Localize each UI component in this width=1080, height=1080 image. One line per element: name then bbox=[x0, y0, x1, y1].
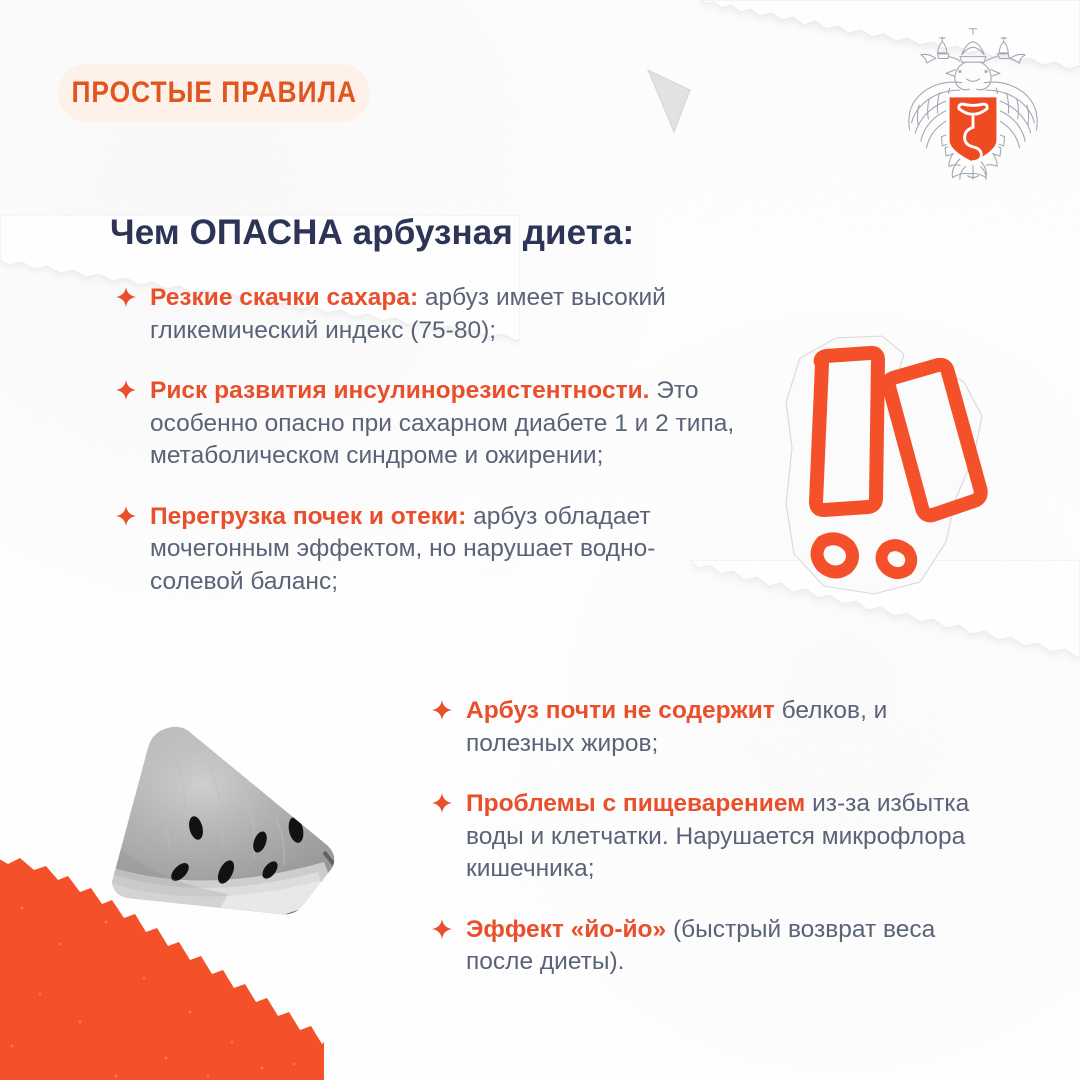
sparkle-star-icon bbox=[116, 287, 136, 307]
sparkle-star-icon bbox=[432, 700, 452, 720]
list-item-strong: Эффект «йо-йо» bbox=[466, 916, 666, 943]
list-item: Перегрузка почек и отеки: арбуз обладает… bbox=[116, 501, 736, 599]
sparkle-star-icon bbox=[432, 793, 452, 813]
list-item: Риск развития инсулинорезистентности. Эт… bbox=[116, 375, 736, 473]
bullet-list-top: Резкие скачки сахара: арбуз имеет высоки… bbox=[116, 282, 736, 599]
double-exclamation-cutout bbox=[778, 328, 988, 600]
list-item-strong: Перегрузка почек и отеки: bbox=[150, 503, 466, 530]
list-item: Арбуз почти не содержит белков, и полезн… bbox=[432, 695, 992, 760]
rospotrebnadzor-emblem bbox=[880, 12, 1066, 198]
list-item-strong: Проблемы с пищеварением bbox=[466, 790, 805, 817]
list-item-strong: Резкие скачки сахара: bbox=[150, 284, 418, 311]
list-item: Проблемы с пищеварением из-за избытка во… bbox=[432, 788, 992, 886]
header-badge-label: ПРОСТЫЕ ПРАВИЛА bbox=[71, 76, 357, 110]
list-item-strong: Арбуз почти не содержит bbox=[466, 697, 775, 724]
page-title: Чем ОПАСНА арбузная диета: bbox=[110, 213, 634, 253]
list-item-strong: Риск развития инсулинорезистентности. bbox=[150, 377, 649, 404]
header-badge: ПРОСТЫЕ ПРАВИЛА bbox=[58, 64, 370, 122]
list-item: Резкие скачки сахара: арбуз имеет высоки… bbox=[116, 282, 736, 347]
sparkle-star-icon bbox=[116, 380, 136, 400]
poster-canvas: ПРОСТЫЕ ПРАВИЛА Чем ОПАСНА арбузная диет… bbox=[0, 0, 1080, 1080]
sparkle-star-icon bbox=[116, 506, 136, 526]
bullet-list-bottom: Арбуз почти не содержит белков, и полезн… bbox=[432, 695, 992, 979]
watermelon-slice-photo bbox=[88, 722, 360, 932]
sparkle-star-icon bbox=[432, 919, 452, 939]
list-item: Эффект «йо-йо» (быстрый возврат веса пос… bbox=[432, 914, 992, 979]
